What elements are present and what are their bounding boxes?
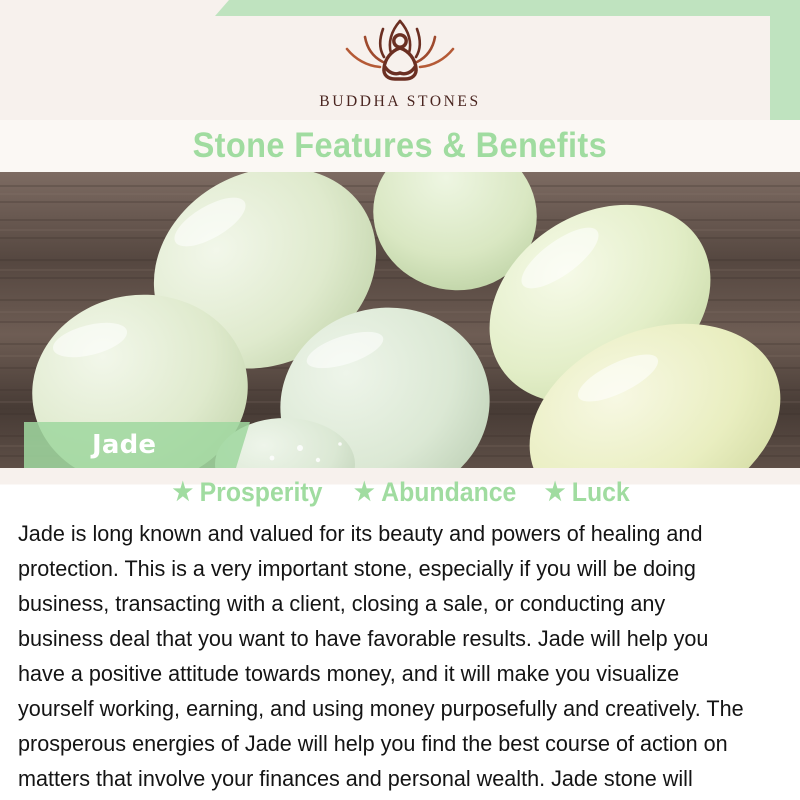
keyword-abundance: ★ Abundance: [354, 477, 516, 508]
lotus-meditation-icon: [325, 15, 475, 87]
stone-name-banner: Jade: [24, 422, 250, 468]
star-icon: ★: [545, 480, 566, 505]
keywords-row: ★ Prosperity ★ Abundance ★ Luck: [0, 468, 800, 516]
description-paragraph: Jade is long known and valued for its be…: [18, 516, 751, 800]
keyword-luck: ★ Luck: [545, 477, 630, 508]
keyword-label: Luck: [572, 477, 630, 508]
keyword-label: Abundance: [381, 477, 516, 508]
description-section: Jade is long known and valued for its be…: [0, 516, 800, 800]
star-icon: ★: [173, 480, 194, 505]
title-banner: Stone Features & Benefits: [0, 120, 800, 172]
infographic-poster: BUDDHA STONES Stone Features & Benefits: [0, 0, 800, 800]
page-title: Stone Features & Benefits: [193, 126, 607, 166]
brand-wordmark: BUDDHA STONES: [319, 93, 480, 111]
brand-header: BUDDHA STONES: [0, 0, 800, 120]
stone-photo: Jade: [0, 172, 800, 468]
keyword-label: Prosperity: [200, 477, 323, 508]
stone-name-label: Jade: [92, 430, 156, 460]
keyword-prosperity: ★ Prosperity: [173, 477, 323, 508]
star-icon: ★: [354, 480, 375, 505]
